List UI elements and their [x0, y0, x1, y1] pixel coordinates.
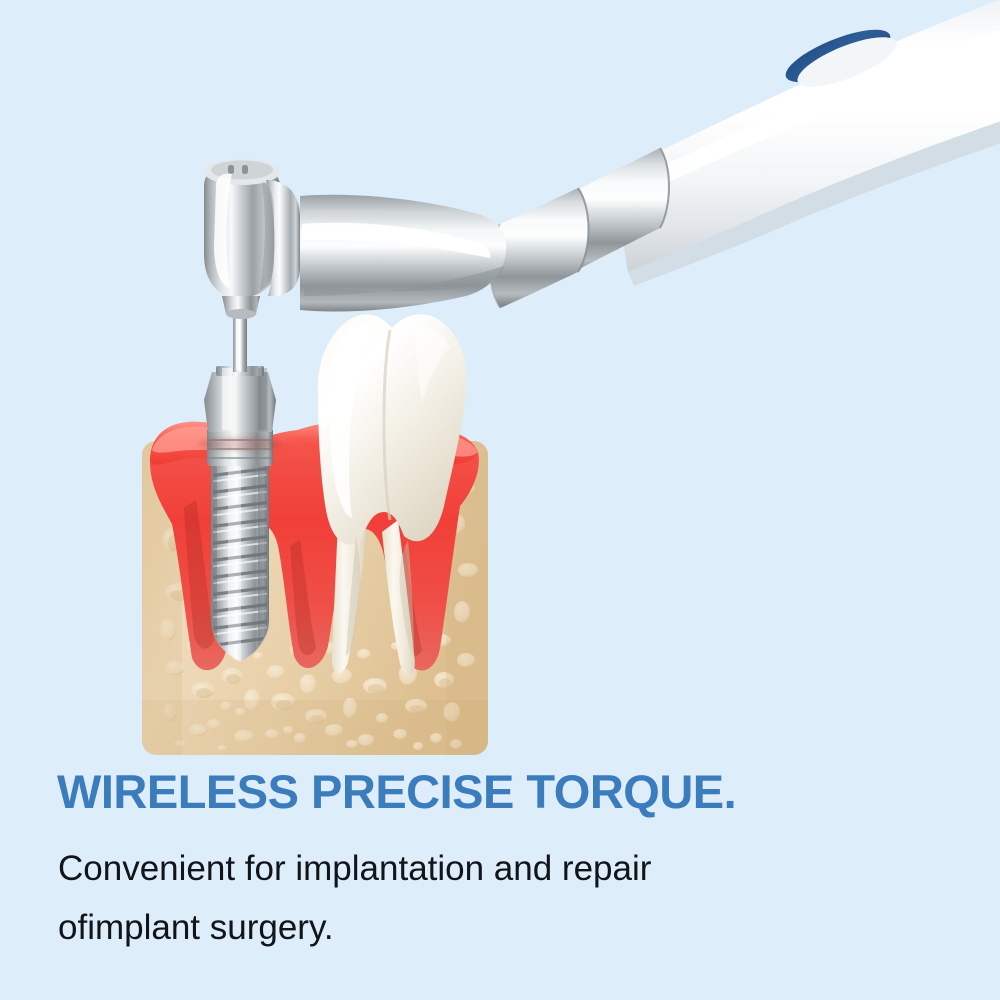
titanium-implant — [204, 366, 276, 670]
push-button-slot-right — [242, 165, 248, 174]
push-button-slot-left — [228, 165, 234, 174]
page-title: WIRELESS PRECISE TORQUE. — [57, 768, 957, 815]
poster-canvas: WIRELESS PRECISE TORQUE. Convenient for … — [0, 0, 1000, 1000]
abutment-highlight — [222, 368, 232, 430]
subtitle-line-2: ofimplant surgery. — [58, 910, 958, 945]
subtitle-line-1: Convenient for implantation and repair — [58, 851, 958, 886]
chuck-ring — [226, 309, 256, 319]
abutment-shadow — [258, 368, 267, 430]
implant-contact-shadow — [198, 437, 282, 451]
